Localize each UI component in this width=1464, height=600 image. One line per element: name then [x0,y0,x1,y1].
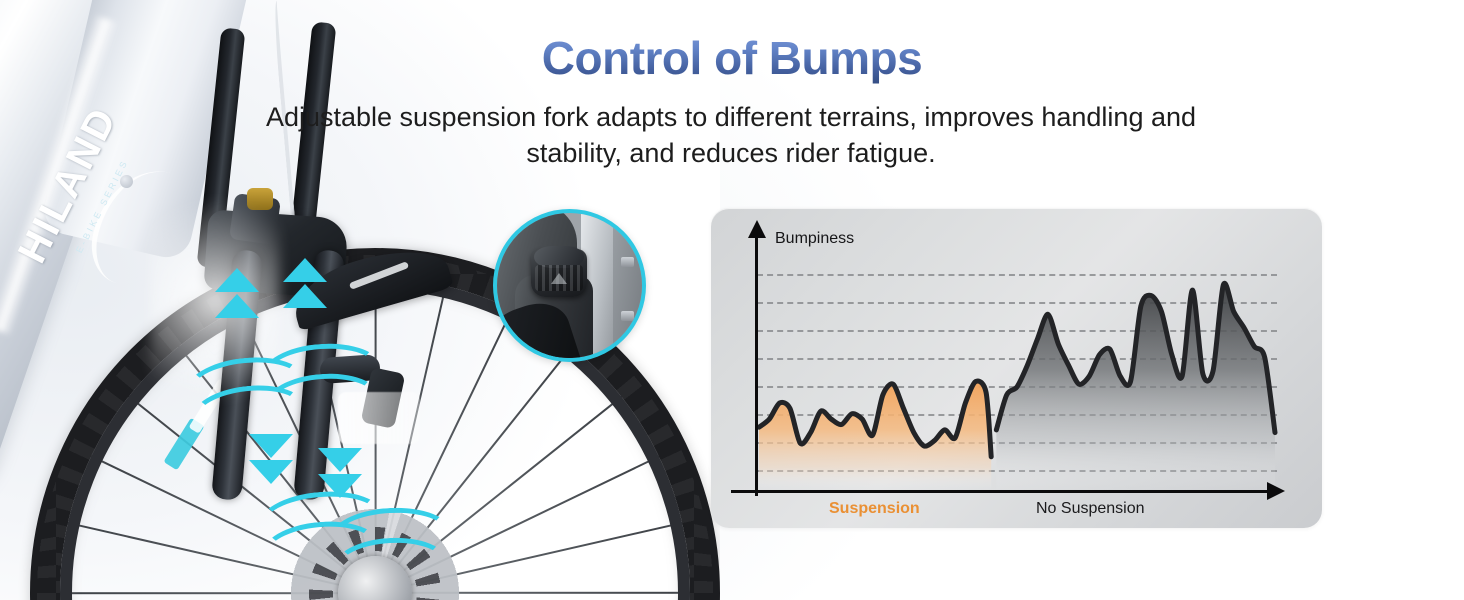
motion-arrow-up-icon [215,294,259,318]
chart-x-axis [731,490,1271,493]
page-subtitle: Adjustable suspension fork adapts to dif… [236,100,1226,172]
callout-content [497,213,642,358]
motion-arrow-up-icon [283,258,327,282]
callout-knob-indicator-arrow-icon [551,273,567,284]
chart-waveforms [711,208,1322,528]
zoom-callout-circle: suspension-lockout-knob-closeup [493,209,646,362]
chart-y-axis-arrow-icon [748,220,766,238]
callout-bolt [621,311,634,321]
infographic-banner: HILAND E-BIKE SERIES [0,0,1464,600]
chart-y-axis [755,234,758,496]
chart-plot-area: Bumpiness Suspension No Suspension [711,208,1322,528]
bumpiness-comparison-chart-panel: Bumpiness Suspension No Suspension [711,208,1322,528]
motion-arrow-up-icon [283,284,327,308]
chart-y-axis-label: Bumpiness [775,230,854,248]
chart-legend-suspension: Suspension [829,500,920,518]
motion-arrow-up-icon [215,268,259,292]
callout-bolt [621,257,634,267]
motion-arrow-down-icon [249,460,293,484]
callout-background-post-dark [613,209,646,362]
chart-x-axis-arrow-icon [1267,482,1285,500]
motion-arrow-down-icon [318,448,362,472]
page-title: Control of Bumps [0,31,1464,85]
chart-legend-no-suspension: No Suspension [1036,500,1145,518]
